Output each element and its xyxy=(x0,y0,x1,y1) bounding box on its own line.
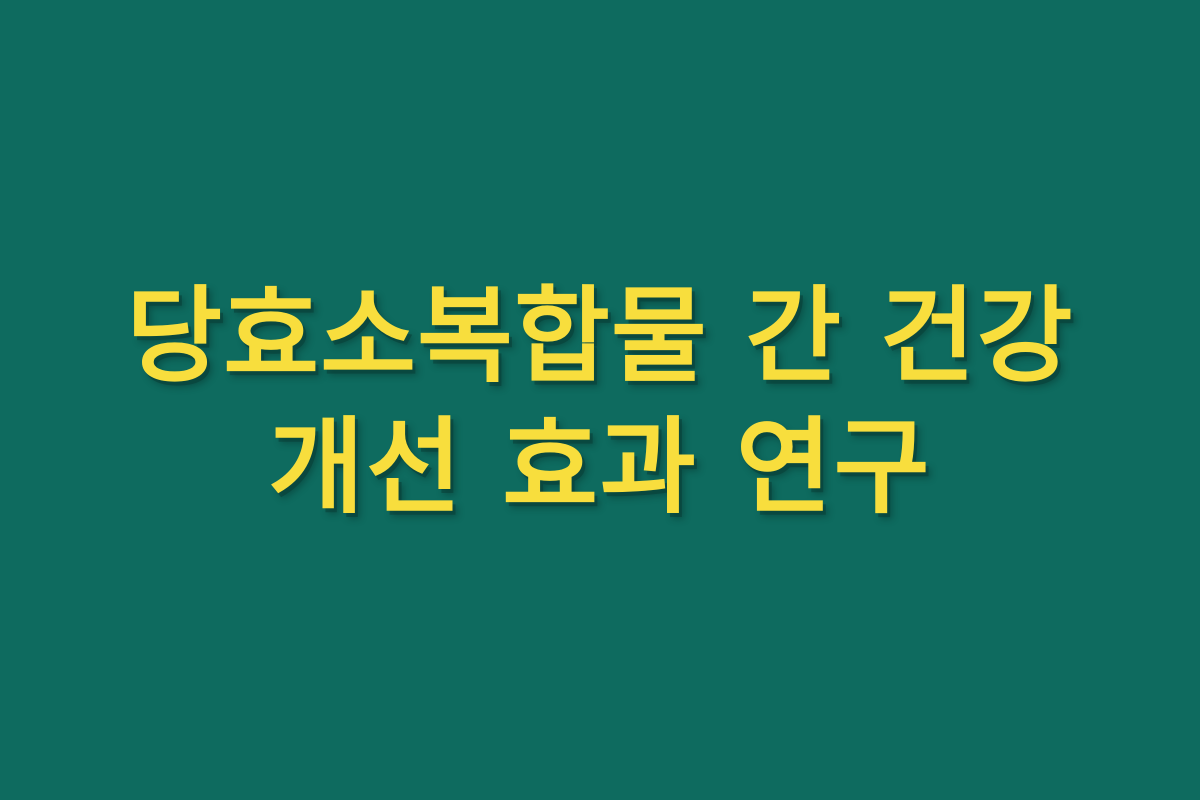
title-line-2: 개선 효과 연구 xyxy=(70,402,1130,533)
title-block: 당효소복합물 간 건강 개선 효과 연구 xyxy=(70,271,1130,533)
title-banner: 당효소복합물 간 건강 개선 효과 연구 xyxy=(0,0,1200,800)
title-line-1: 당효소복합물 간 건강 xyxy=(70,271,1130,402)
